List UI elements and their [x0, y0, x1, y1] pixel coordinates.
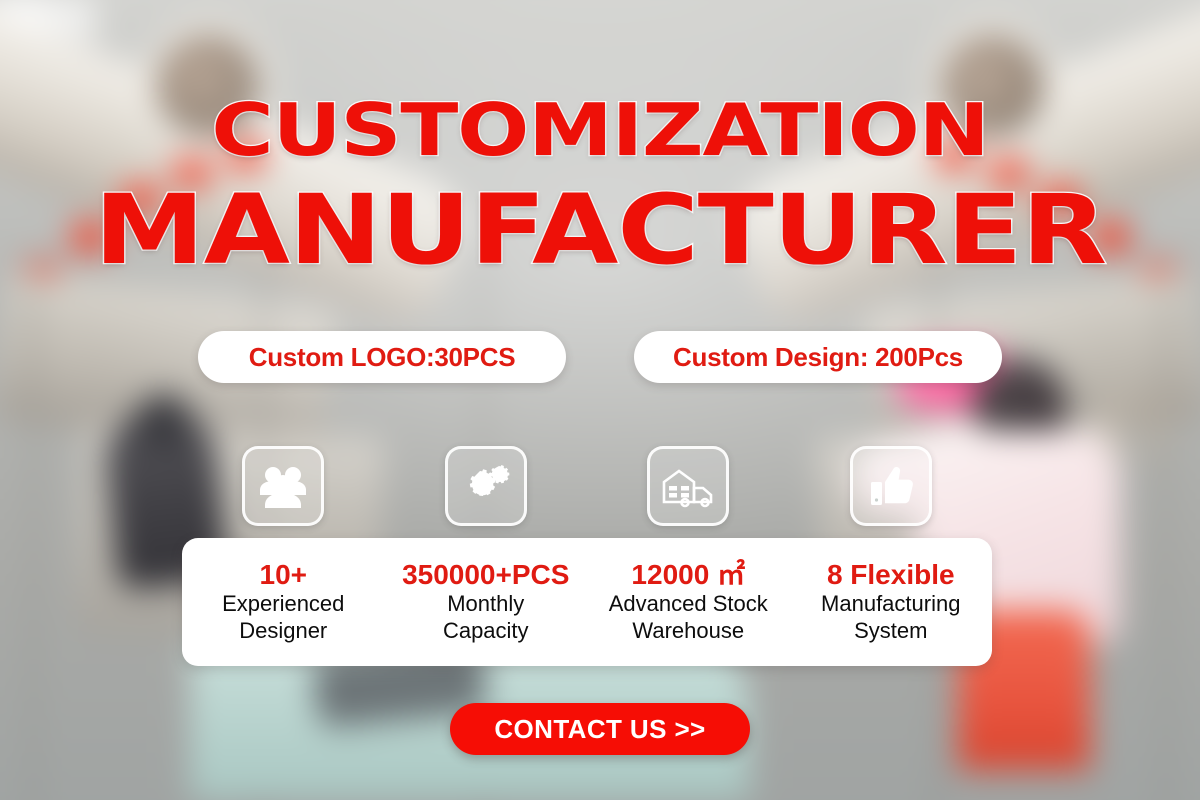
stat-value: 12000 ㎡ [593, 559, 784, 590]
thumbs-up-icon [868, 463, 914, 509]
stat-label-line-1: Manufacturing [796, 591, 987, 618]
feature-tile-warehouse[interactable] [647, 446, 729, 526]
promo-banner: CUSTOMIZATION MANUFACTURER Custom LOGO:3… [0, 0, 1200, 800]
badge-row: Custom LOGO:30PCS Custom Design: 200Pcs [0, 331, 1200, 383]
feature-tile-capacity[interactable] [445, 446, 527, 526]
headline-line-1: CUSTOMIZATION [0, 94, 1200, 166]
group-people-icon [258, 464, 308, 508]
feature-icon-cell [182, 446, 385, 526]
stats-panel: 10+ Experienced Designer 350000+PCS Mont… [182, 538, 992, 666]
badge-custom-logo[interactable]: Custom LOGO:30PCS [198, 331, 566, 383]
gears-icon [461, 463, 511, 509]
stat-capacity: 350000+PCS Monthly Capacity [385, 559, 588, 644]
stat-label-line-1: Experienced [188, 591, 379, 618]
stat-value: 350000+PCS [391, 559, 582, 590]
feature-tile-designers[interactable] [242, 446, 324, 526]
stat-label-line-2: Warehouse [593, 618, 784, 645]
stat-label-line-1: Advanced Stock [593, 591, 784, 618]
badge-custom-design[interactable]: Custom Design: 200Pcs [634, 331, 1002, 383]
stat-flexible-system: 8 Flexible Manufacturing System [790, 559, 993, 644]
stat-value: 10+ [188, 559, 379, 590]
feature-icon-cell [587, 446, 790, 526]
stat-value: 8 Flexible [796, 559, 987, 590]
feature-icon-cell [790, 446, 993, 526]
feature-icon-row [182, 446, 992, 526]
stat-designers: 10+ Experienced Designer [182, 559, 385, 644]
feature-icon-cell [385, 446, 588, 526]
stat-label-line-2: Designer [188, 618, 379, 645]
warehouse-truck-icon [661, 464, 715, 508]
stat-label-line-1: Monthly [391, 591, 582, 618]
contact-us-button[interactable]: CONTACT US >> [450, 703, 750, 755]
stat-warehouse: 12000 ㎡ Advanced Stock Warehouse [587, 559, 790, 644]
stat-label-line-2: System [796, 618, 987, 645]
stat-label-line-2: Capacity [391, 618, 582, 645]
headline-line-2: MANUFACTURER [0, 182, 1200, 278]
feature-tile-flexible-system[interactable] [850, 446, 932, 526]
